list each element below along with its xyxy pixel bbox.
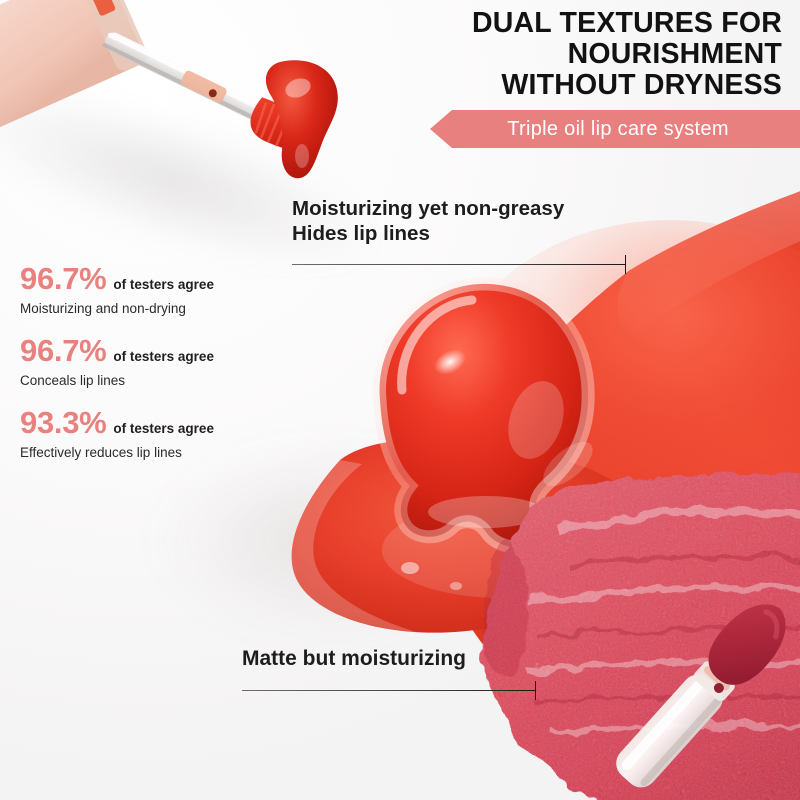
stat-percent: 93.3% — [20, 406, 106, 440]
page-title: DUAL TEXTURES FOR NOURISHMENT WITHOUT DR… — [262, 8, 782, 101]
stat-agree-label: of testers agree — [113, 421, 214, 437]
callout-matte: Matte but moisturizing — [242, 646, 582, 701]
callout-gloss-leader — [292, 255, 642, 275]
stat-description: Conceals lip lines — [20, 372, 300, 389]
stat-item: 93.3% of testers agree Effectively reduc… — [20, 406, 300, 461]
headline-line-3: WITHOUT DRYNESS — [262, 70, 782, 101]
claims-stats-list: 96.7% of testers agree Moisturizing and … — [20, 262, 300, 478]
matte-applicator-image — [620, 570, 800, 800]
leader-tick — [535, 681, 536, 700]
callout-gloss: Moisturizing yet non-greasy Hides lip li… — [292, 196, 642, 275]
leader-line — [292, 264, 626, 265]
stat-headline: 93.3% of testers agree — [20, 406, 300, 440]
stat-description: Moisturizing and non-drying — [20, 300, 300, 317]
stat-agree-label: of testers agree — [113, 277, 214, 293]
leader-tick — [625, 255, 626, 274]
headline-line-2: NOURISHMENT — [262, 39, 782, 70]
stat-agree-label: of testers agree — [113, 349, 214, 365]
stat-headline: 96.7% of testers agree — [20, 262, 300, 296]
tagline-text: Triple oil lip care system — [495, 118, 735, 141]
callout-matte-line-1: Matte but moisturizing — [242, 646, 582, 672]
callout-gloss-line-1: Moisturizing yet non-greasy — [292, 196, 642, 221]
stat-percent: 96.7% — [20, 334, 106, 368]
product-infographic: DUAL TEXTURES FOR NOURISHMENT WITHOUT DR… — [0, 0, 800, 800]
stat-percent: 96.7% — [20, 262, 106, 296]
stat-item: 96.7% of testers agree Moisturizing and … — [20, 262, 300, 317]
callout-gloss-line-2: Hides lip lines — [292, 221, 642, 246]
stat-item: 96.7% of testers agree Conceals lip line… — [20, 334, 300, 389]
stat-description: Effectively reduces lip lines — [20, 444, 300, 461]
leader-line — [242, 690, 536, 691]
headline-line-1: DUAL TEXTURES FOR — [262, 8, 782, 39]
tagline-ribbon: Triple oil lip care system — [430, 110, 800, 148]
stat-headline: 96.7% of testers agree — [20, 334, 300, 368]
callout-matte-leader — [242, 681, 582, 701]
